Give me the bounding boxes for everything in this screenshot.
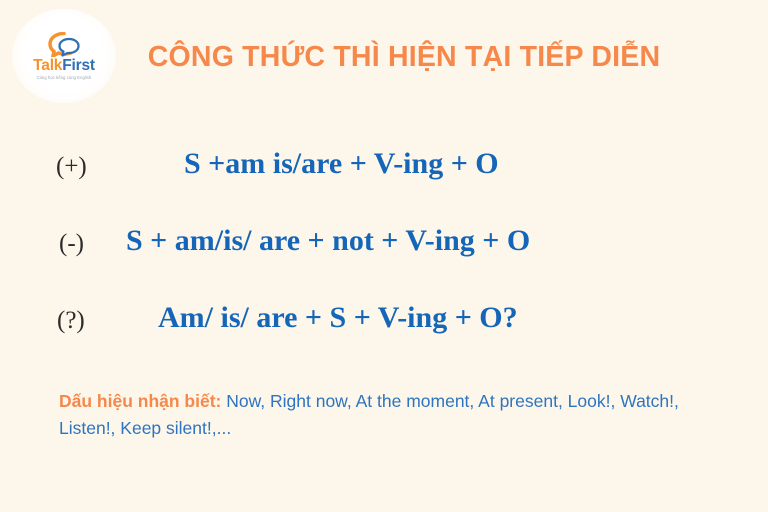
logo-word-talk: Talk [33, 57, 62, 74]
logo-tagline: Cùng học tiếng cùng English [37, 75, 92, 80]
formula-row-affirmative: (+) S +am is/are + V-ing + O [0, 138, 768, 215]
formula-expression-affirmative: S +am is/are + V-ing + O [184, 149, 499, 179]
talkfirst-logo: TalkFirst Cùng học tiếng cùng English [12, 9, 116, 103]
slide-canvas: TalkFirst Cùng học tiếng cùng English CÔ… [0, 0, 768, 512]
speech-bubble-icon [47, 32, 81, 57]
formula-marker-negative: (-) [59, 231, 84, 256]
logo-wordmark: TalkFirst [33, 58, 95, 74]
formula-row-interrogative: (?) Am/ is/ are + S + V-ing + O? [0, 292, 768, 369]
formula-expression-negative: S + am/is/ are + not + V-ing + O [126, 226, 530, 256]
formula-list: (+) S +am is/are + V-ing + O (-) S + am/… [0, 138, 768, 369]
formula-marker-affirmative: (+) [56, 154, 87, 179]
note-label: Dấu hiệu nhận biết: [59, 391, 221, 411]
logo-content: TalkFirst Cùng học tiếng cùng English [12, 9, 116, 103]
formula-marker-interrogative: (?) [57, 308, 85, 333]
logo-word-first: First [62, 57, 95, 74]
formula-expression-interrogative: Am/ is/ are + S + V-ing + O? [158, 303, 518, 333]
page-title: CÔNG THỨC THÌ HIỆN TẠI TIẾP DIỄN [104, 41, 704, 74]
signal-words-note: Dấu hiệu nhận biết: Now, Right now, At t… [59, 388, 719, 442]
formula-row-negative: (-) S + am/is/ are + not + V-ing + O [0, 215, 768, 292]
